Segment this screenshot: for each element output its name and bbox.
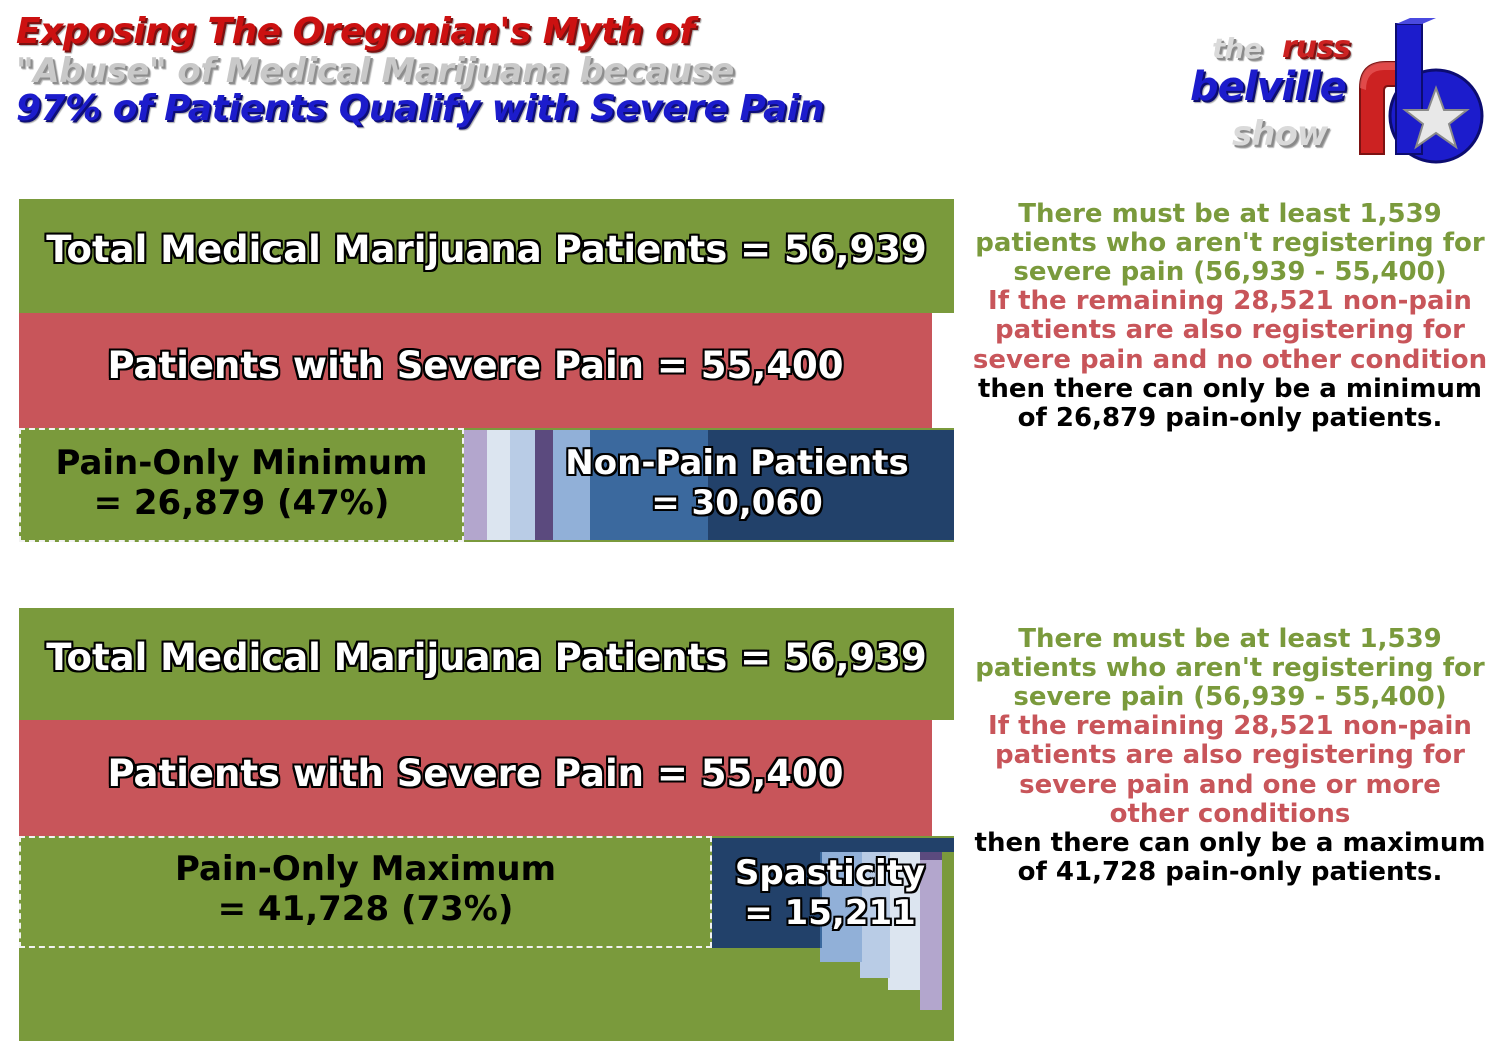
annotation-bottom-green-1: There must be at least 1,539 [965,625,1495,654]
annotation-bottom-red-2: patients are also registering for [965,741,1495,770]
annotation-bottom-red-4: other conditions [965,800,1495,829]
chart-pain-only-maximum: Total Medical Marijuana Patients = 56,93… [0,0,1500,1050]
annotation-bottom-black-1: then there can only be a maximum [965,829,1495,858]
bar-pain-only-maximum: Pain-Only Maximum = 41,728 (73%) [19,836,712,948]
bar-severe-pain-2: Patients with Severe Pain = 55,400 [19,720,932,836]
bar-label-pain-only-maximum-line1: Pain-Only Maximum [19,852,712,888]
bar-label-pain-only-maximum-line2: = 41,728 (73%) [19,892,712,928]
annotation-bottom-black-2: of 41,728 pain-only patients. [965,858,1495,887]
bar-spasticity: Spasticity = 15,211 [715,840,945,952]
bar-label-spasticity-line1: Spasticity [715,856,945,892]
bar-label-spasticity-line2: = 15,211 [715,896,945,932]
annotation-bottom-green-3: severe pain (56,939 - 55,400) [965,683,1495,712]
bar-label-severe-pain-2: Patients with Severe Pain = 55,400 [19,755,932,794]
annotation-bottom-green-2: patients who aren't registering for [965,654,1495,683]
annotation-bottom-red-3: severe pain and one or more [965,771,1495,800]
annotation-bottom-red-1: If the remaining 28,521 non-pain [965,712,1495,741]
bar-label-total-patients-2: Total Medical Marijuana Patients = 56,93… [19,639,954,678]
bar-total-patients-2: Total Medical Marijuana Patients = 56,93… [19,608,954,720]
annotation-bottom: There must be at least 1,539 patients wh… [965,625,1495,887]
